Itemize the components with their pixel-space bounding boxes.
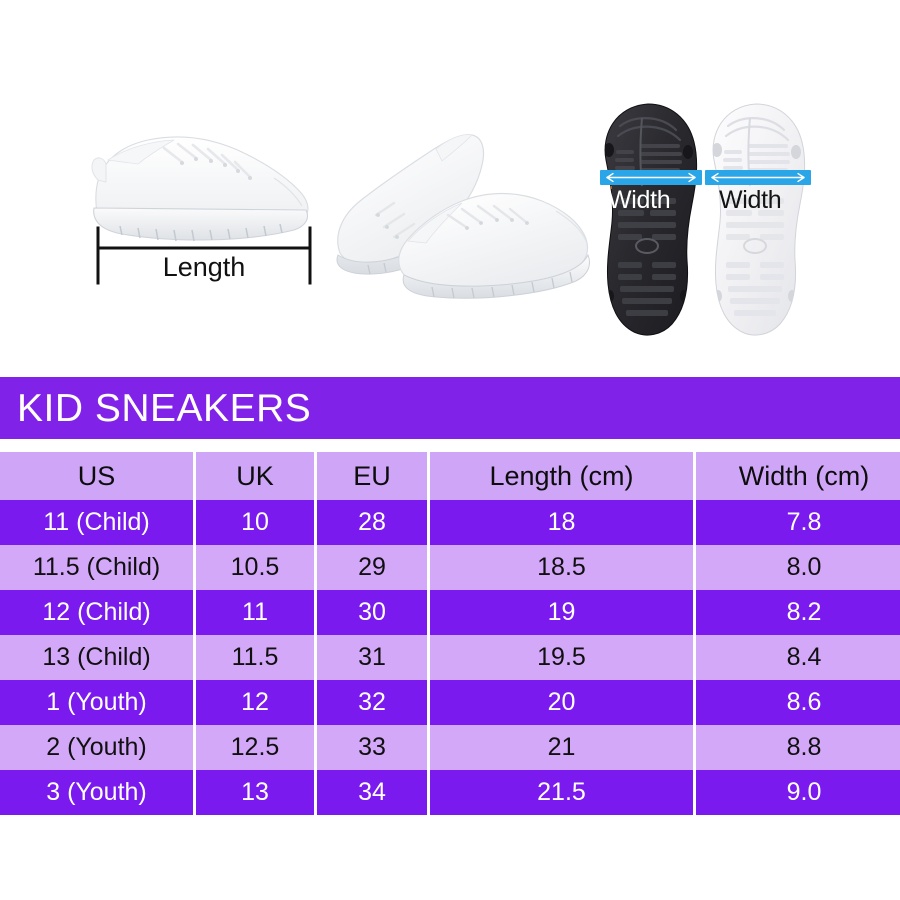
cell-eu: 28: [317, 500, 427, 545]
cell-width: 8.6: [696, 680, 900, 725]
double-arrow-icon: [600, 170, 702, 185]
cell-uk: 10.5: [196, 545, 314, 590]
cell-length: 19: [430, 590, 693, 635]
cell-eu: 34: [317, 770, 427, 815]
cell-width: 8.0: [696, 545, 900, 590]
double-arrow-icon: [705, 170, 811, 185]
column-header-us: US: [0, 452, 193, 500]
width-measure-arrow-black: [600, 170, 702, 185]
sneaker-pair-icon: [330, 105, 595, 315]
cell-uk: 13: [196, 770, 314, 815]
cell-length: 18.5: [430, 545, 693, 590]
cell-uk: 10: [196, 500, 314, 545]
column-header-width: Width (cm): [696, 452, 900, 500]
cell-eu: 30: [317, 590, 427, 635]
cell-eu: 31: [317, 635, 427, 680]
cell-width: 8.4: [696, 635, 900, 680]
cell-length: 21: [430, 725, 693, 770]
table-row: 13 (Child) 11.5 31 19.5 8.4: [0, 635, 900, 680]
size-table: US UK EU Length (cm) Width (cm) 11 (Chil…: [0, 452, 900, 815]
cell-eu: 32: [317, 680, 427, 725]
chart-title: KID SNEAKERS: [17, 389, 311, 428]
table-row: 11.5 (Child) 10.5 29 18.5 8.0: [0, 545, 900, 590]
cell-eu: 29: [317, 545, 427, 590]
cell-eu: 33: [317, 725, 427, 770]
cell-uk: 11.5: [196, 635, 314, 680]
cell-us: 1 (Youth): [0, 680, 193, 725]
cell-width: 8.8: [696, 725, 900, 770]
length-measure-label: Length: [98, 252, 310, 283]
cell-width: 7.8: [696, 500, 900, 545]
cell-length: 20: [430, 680, 693, 725]
size-table-body: 11 (Child) 10 28 18 7.8 11.5 (Child) 10.…: [0, 500, 900, 815]
cell-us: 2 (Youth): [0, 725, 193, 770]
cell-us: 13 (Child): [0, 635, 193, 680]
shoe-sole-white-icon: [700, 100, 810, 340]
cell-us: 12 (Child): [0, 590, 193, 635]
product-imagery-band: Length: [0, 0, 900, 377]
cell-length: 21.5: [430, 770, 693, 815]
table-row: 11 (Child) 10 28 18 7.8: [0, 500, 900, 545]
cell-uk: 12.5: [196, 725, 314, 770]
cell-uk: 11: [196, 590, 314, 635]
chart-title-bar: KID SNEAKERS: [0, 377, 900, 439]
shoe-sole-black-icon: [596, 100, 701, 340]
cell-length: 19.5: [430, 635, 693, 680]
column-header-length: Length (cm): [430, 452, 693, 500]
cell-us: 11.5 (Child): [0, 545, 193, 590]
size-table-header: US UK EU Length (cm) Width (cm): [0, 452, 900, 500]
size-chart-page: Length: [0, 0, 900, 900]
shoe-sole-white-group: [700, 100, 810, 340]
cell-width: 8.2: [696, 590, 900, 635]
column-header-eu: EU: [317, 452, 427, 500]
table-row: 1 (Youth) 12 32 20 8.6: [0, 680, 900, 725]
column-header-uk: UK: [196, 452, 314, 500]
table-header-row: US UK EU Length (cm) Width (cm): [0, 452, 900, 500]
table-row: 2 (Youth) 12.5 33 21 8.8: [0, 725, 900, 770]
width-measure-arrow-white: [705, 170, 811, 185]
cell-length: 18: [430, 500, 693, 545]
table-row: 12 (Child) 11 30 19 8.2: [0, 590, 900, 635]
cell-uk: 12: [196, 680, 314, 725]
shoe-sole-black-group: [596, 100, 701, 340]
cell-width: 9.0: [696, 770, 900, 815]
table-row: 3 (Youth) 13 34 21.5 9.0: [0, 770, 900, 815]
cell-us: 11 (Child): [0, 500, 193, 545]
size-chart-section: KID SNEAKERS US UK EU Length (cm) Width …: [0, 377, 900, 815]
title-table-divider: [0, 439, 900, 452]
cell-us: 3 (Youth): [0, 770, 193, 815]
sneaker-pair-group: [330, 105, 595, 315]
